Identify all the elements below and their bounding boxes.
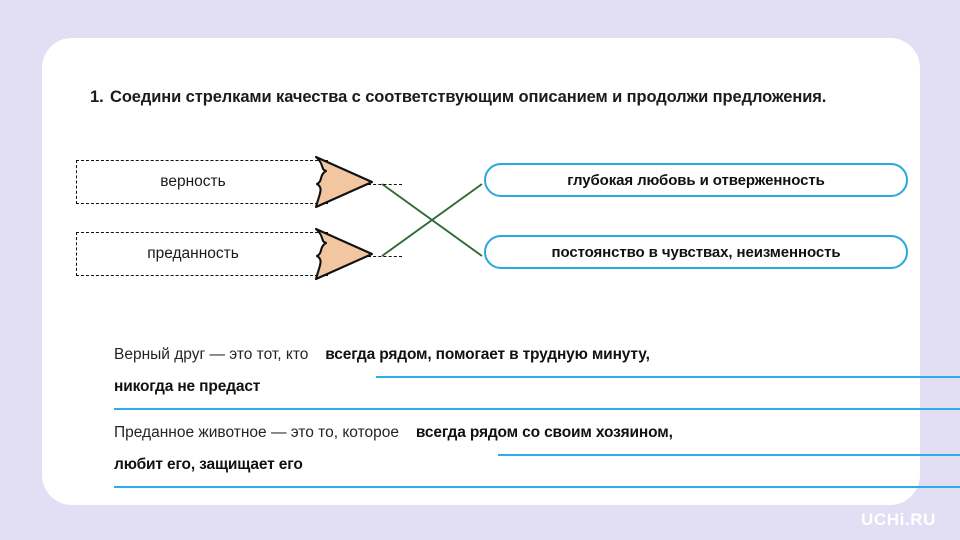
sentence-row-primary: Верный друг — это тот, кто всегда рядом,… (114, 346, 960, 378)
sentence-prompt: Верный друг — это тот, кто (114, 346, 308, 363)
uchi-ru-logo: UCHi.RU (861, 510, 936, 530)
definition-label: глубокая любовь и отверженность (567, 172, 824, 189)
term-label: верность (77, 173, 309, 191)
connector-line-1 (382, 184, 482, 256)
pencil-arrow-icon (314, 154, 376, 210)
sentence-item: Верный друг — это тот, кто всегда рядом,… (114, 346, 960, 410)
term-label: преданность (77, 245, 309, 263)
sentence-answer-continued[interactable]: любит его, защищает его (114, 456, 303, 473)
sentence-prompt: Преданное животное — это то, которое (114, 424, 399, 441)
sentence-row-continued: никогда не предаст (114, 378, 960, 410)
sentence-row-primary: Преданное животное — это то, которое все… (114, 424, 960, 456)
term-box-predannost[interactable]: преданность (76, 232, 328, 276)
answer-rule (114, 486, 960, 488)
sentence-answer[interactable]: всегда рядом, помогает в трудную минуту, (325, 346, 649, 363)
connector-line-0 (382, 184, 482, 256)
sentence-item: Преданное животное — это то, которое все… (114, 424, 960, 488)
sentence-completion-area: Верный друг — это тот, кто всегда рядом,… (114, 346, 960, 502)
sentence-row-continued: любит его, защищает его (114, 456, 960, 488)
sentence-answer[interactable]: всегда рядом со своим хозяином, (416, 424, 673, 441)
answer-rule (114, 408, 960, 410)
worksheet-card: 1. Соедини стрелками качества с соответс… (42, 38, 920, 505)
pencil-arrow-icon (314, 226, 376, 282)
definition-pill-postoyanstvo[interactable]: постоянство в чувствах, неизменность (484, 235, 908, 269)
definition-label: постоянство в чувствах, неизменность (552, 244, 841, 261)
sentence-answer-continued[interactable]: никогда не предаст (114, 378, 260, 395)
term-box-vernost[interactable]: верность (76, 160, 328, 204)
definition-pill-lyubov[interactable]: глубокая любовь и отверженность (484, 163, 908, 197)
